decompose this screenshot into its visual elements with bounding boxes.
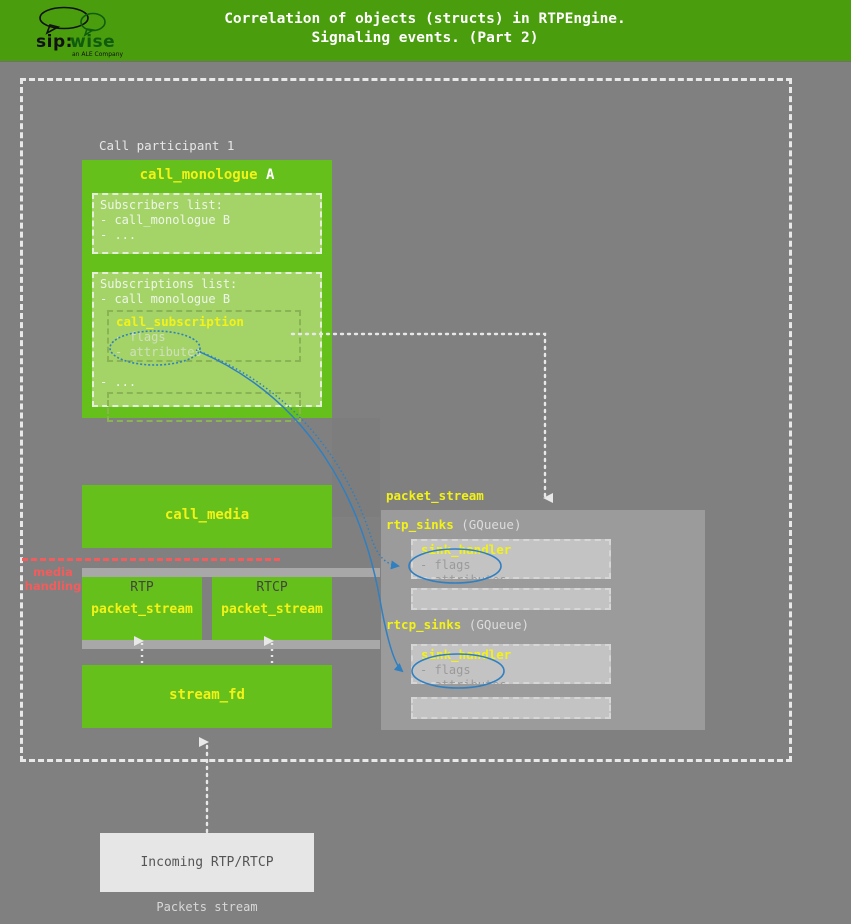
packets-stream-caption: Packets stream [100,900,314,914]
rtcp-sink-handler-box-empty [411,697,611,719]
packet-stream-rtcp-box: RTCP packet_stream [212,577,332,640]
rtcp-sinks-label: rtcp_sinks (GQueue) [386,617,529,632]
bar-media-to-streams [82,568,380,577]
subscribers-heading: Subscribers list: [100,198,223,213]
incoming-rtp-rtcp-box: Incoming RTP/RTCP [100,833,314,892]
subscriptions-heading: Subscriptions list: [100,277,237,292]
packet-stream-rtcp-proto: RTCP [212,580,332,595]
rtp-sink-handler-box-empty [411,588,611,610]
call-monologue-box: call_monologue A Subscribers list: - cal… [82,160,332,418]
subscribers-list-panel: Subscribers list: - call_monologue B - .… [92,193,322,254]
call-subscription-fields: - flags - attributes [115,330,202,359]
call-subscription-title: call_subscription [116,314,244,329]
media-handling-divider [22,558,280,561]
page-header: sip: wise an ALE Company Correlation of … [0,0,851,62]
rtcp-sink-handler-fields: - flags - attributes [420,663,507,692]
rtp-sink-handler-fields: - flags - attributes [420,558,507,587]
rtcp-sink-handler-box: sink_handler - flags - attributes [411,644,611,684]
svg-text:sip:: sip: [36,32,73,52]
packet-stream-panel-title: packet_stream [386,488,484,503]
svg-text:wise: wise [70,32,115,52]
call-subscription-box: call_subscription - flags - attributes [107,310,301,362]
call-media-title: call_media [82,507,332,523]
diagram-canvas: sip: wise an ALE Company Correlation of … [0,0,851,924]
subscriptions-first-item: - call monologue B [100,292,230,307]
rtcp-sink-handler-title: sink_handler [421,647,511,662]
bar-streams-to-streamfd [82,640,380,649]
svg-text:an ALE Company: an ALE Company [72,51,124,58]
packet-stream-rtp-title: packet_stream [82,602,202,617]
subscriptions-list-panel: Subscriptions list: - call monologue B c… [92,272,322,407]
page-title: Correlation of objects (structs) in RTPE… [150,10,700,48]
media-handling-label: media handling [18,565,88,593]
packet-stream-rtcp-title: packet_stream [212,602,332,617]
subscribers-items: - call_monologue B - ... [100,213,230,242]
call-subscription-box-empty [107,392,301,422]
packet-stream-detail-panel: rtp_sinks (GQueue) sink_handler - flags … [381,510,705,730]
packet-stream-rtp-box: RTP packet_stream [82,577,202,640]
rtp-sink-handler-title: sink_handler [421,542,511,557]
stream-fd-title: stream_fd [82,687,332,703]
stream-fd-box: stream_fd [82,665,332,728]
rtp-sinks-label: rtp_sinks (GQueue) [386,517,521,532]
connector-monologue-media [332,418,380,517]
call-participant-label: Call participant 1 [99,138,234,153]
rtp-sink-handler-box: sink_handler - flags - attributes [411,539,611,579]
call-monologue-title: call_monologue A [82,167,332,183]
call-media-box: call_media [82,485,332,548]
packet-stream-rtp-proto: RTP [82,580,202,595]
subscriptions-more: - ... [100,375,136,390]
sipwise-logo: sip: wise an ALE Company [28,4,136,58]
